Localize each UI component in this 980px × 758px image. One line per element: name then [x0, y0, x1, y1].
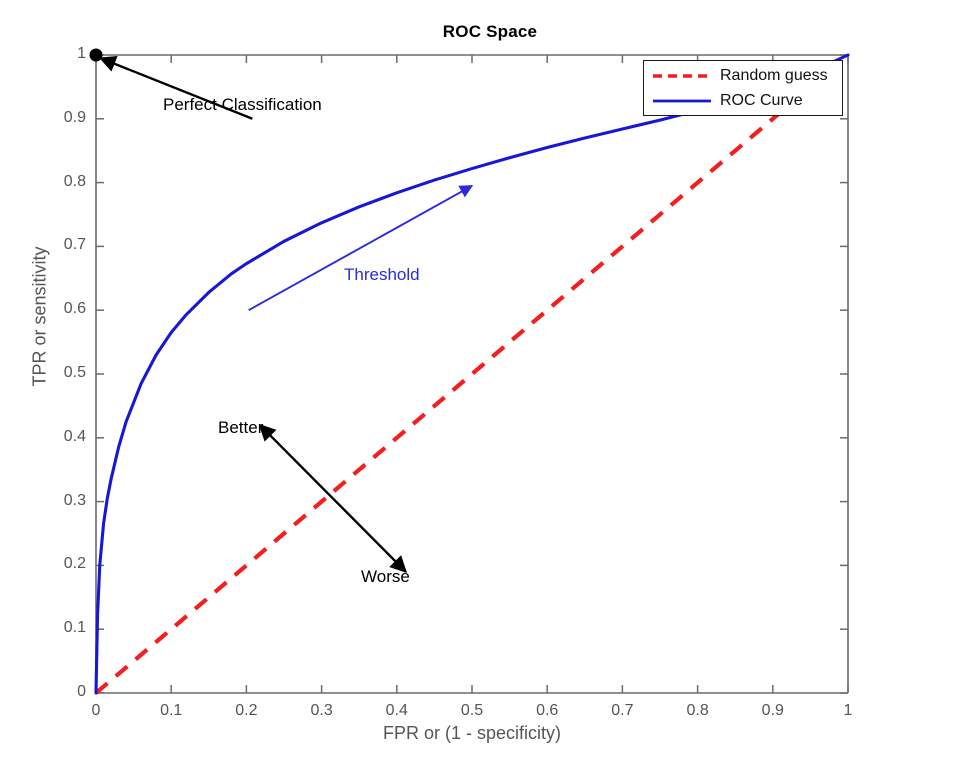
legend-item-random-guess: Random guess [644, 63, 844, 89]
x-tick-label: 0.8 [676, 702, 720, 720]
y-tick-label: 0.3 [42, 492, 86, 510]
x-tick-label: 0.1 [149, 702, 193, 720]
annotation-arrows [101, 58, 472, 572]
x-tick-label: 0.5 [450, 702, 494, 720]
x-tick-label: 1 [826, 702, 870, 720]
y-tick-label: 0.8 [42, 173, 86, 191]
annotation-perfect-classification: Perfect Classification [163, 95, 322, 115]
y-tick-label: 1 [42, 45, 86, 63]
legend: Random guess ROC Curve [643, 60, 843, 116]
y-tick-label: 0.1 [42, 619, 86, 637]
better-arrow [260, 425, 333, 498]
legend-label-random-guess: Random guess [720, 67, 828, 85]
perfect-classification-point [90, 49, 103, 62]
x-tick-label: 0.6 [525, 702, 569, 720]
legend-swatch-solid-line [652, 94, 712, 108]
x-axis-label: FPR or (1 - specificity) [96, 723, 848, 744]
x-tick-label: 0.7 [600, 702, 644, 720]
y-tick-label: 0.2 [42, 555, 86, 573]
y-axis-label: TPR or sensitivity [30, 207, 51, 427]
annotation-worse: Worse [361, 567, 410, 587]
x-tick-label: 0.4 [375, 702, 419, 720]
series-random-guess [96, 55, 848, 693]
x-tick-label: 0 [74, 702, 118, 720]
y-tick-label: 0.4 [42, 428, 86, 446]
x-tick-label: 0.2 [224, 702, 268, 720]
worse-arrow [333, 498, 406, 571]
legend-item-roc-curve: ROC Curve [644, 88, 844, 114]
legend-label-roc-curve: ROC Curve [720, 92, 803, 110]
legend-swatch-dashed-line [652, 69, 712, 83]
annotation-better: Better [218, 418, 263, 438]
roc-chart-figure: ROC Space [0, 0, 980, 758]
y-tick-label: 0 [42, 683, 86, 701]
y-tick-label: 0.9 [42, 109, 86, 127]
annotation-threshold: Threshold [344, 265, 420, 285]
x-tick-label: 0.9 [751, 702, 795, 720]
x-tick-label: 0.3 [300, 702, 344, 720]
threshold-arrow [249, 186, 472, 310]
